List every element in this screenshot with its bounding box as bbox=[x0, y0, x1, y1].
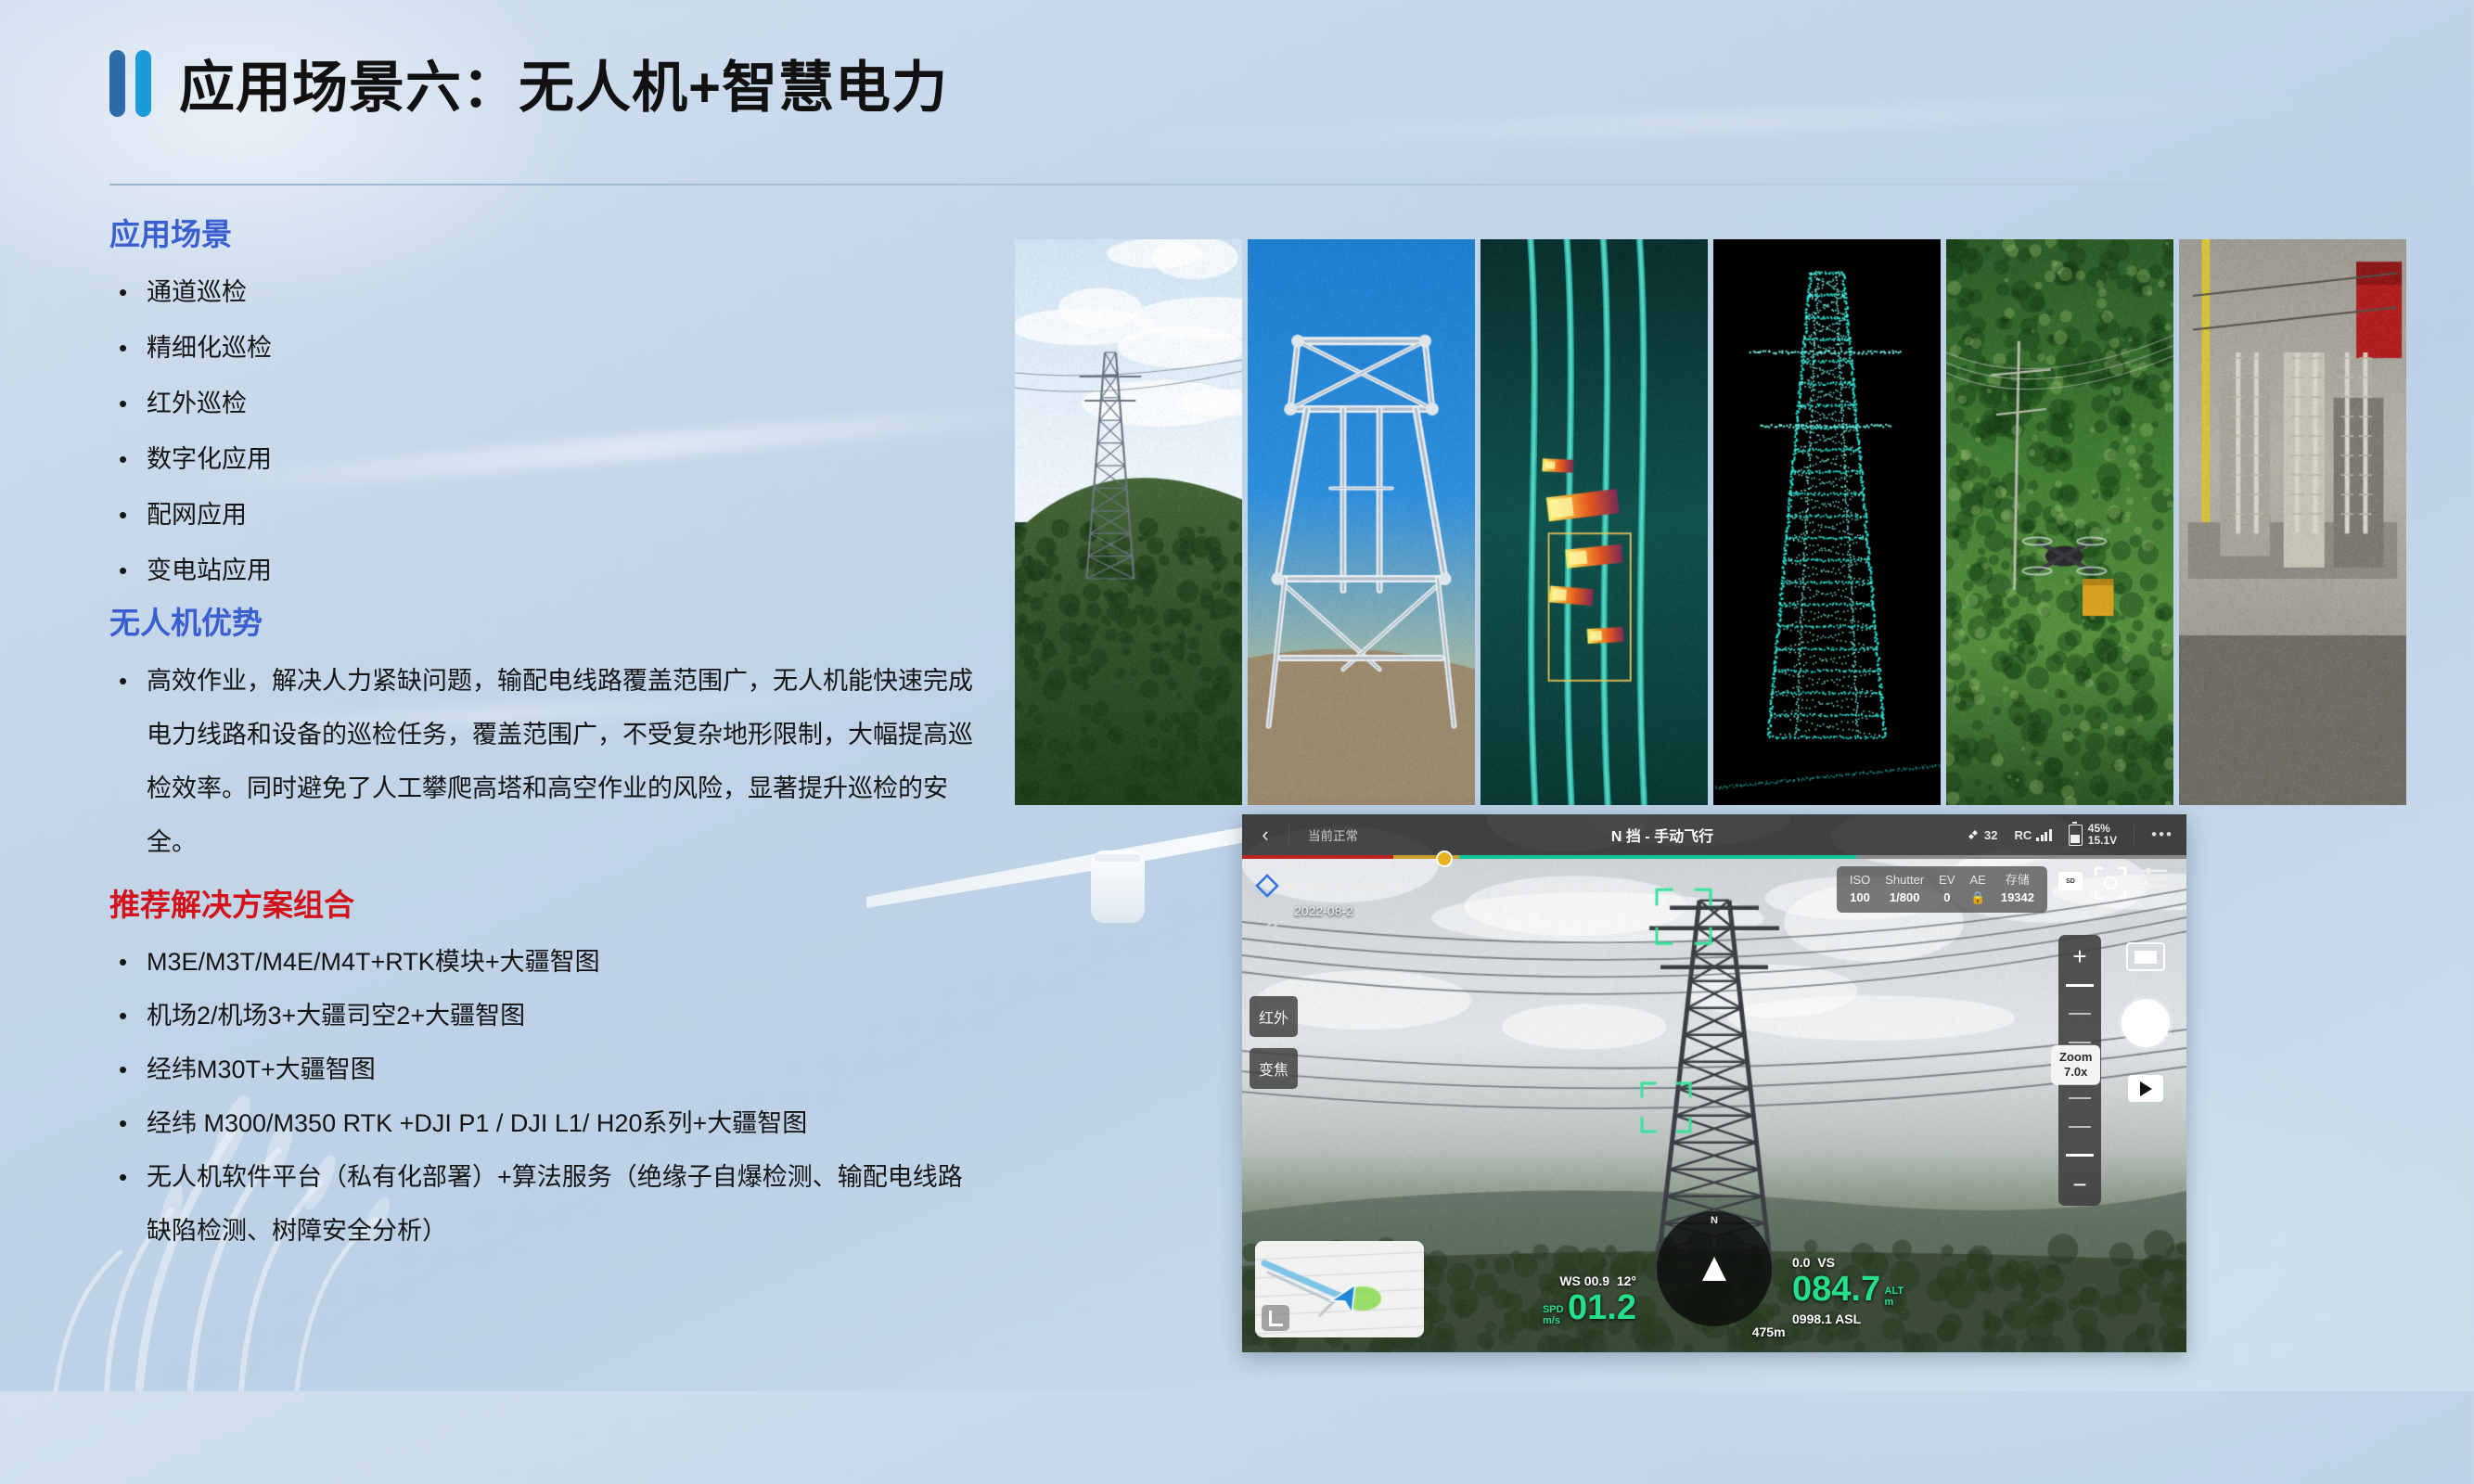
settings-sliders-icon[interactable] bbox=[2138, 864, 2170, 892]
advantages-paragraph: 高效作业，解决人力紧缺问题，输配电线路覆盖范围广，无人机能快速完成电力线路和设备… bbox=[109, 654, 981, 869]
ev-label: EV bbox=[1939, 872, 1955, 889]
page-title: 应用场景六：无人机+智慧电力 bbox=[179, 43, 948, 123]
satellite-indicator: 32 bbox=[1967, 828, 1997, 842]
camera-mode-buttons: 红外 变焦 bbox=[1250, 996, 1298, 1089]
list-item: 数字化应用 bbox=[109, 431, 1000, 487]
edit-pencil-icon[interactable] bbox=[1253, 916, 1281, 944]
ev-value: 0 bbox=[1939, 889, 1955, 907]
ae-lock-icon: 🔒 bbox=[1970, 889, 1986, 907]
storage-value: 19342 bbox=[2001, 889, 2034, 907]
progress-segment-red bbox=[1242, 855, 1393, 859]
battery-readout: 45% 15.1V bbox=[2088, 823, 2117, 848]
progress-segment-green bbox=[1459, 855, 1856, 859]
flight-mode-label: N 挡 - 手动飞行 bbox=[1358, 824, 1967, 846]
camera-settings-overlay: ISO 100 Shutter 1/800 EV 0 AE 🔒 存储 19342 bbox=[1837, 866, 2047, 913]
slide-header: 应用场景六：无人机+智慧电力 bbox=[109, 43, 948, 123]
zoom-tick bbox=[2069, 1013, 2091, 1015]
list-item: 无人机软件平台（私有化部署）+算法服务（绝缘子自爆检测、输配电线路缺陷检测、树障… bbox=[109, 1150, 963, 1258]
progress-knob[interactable] bbox=[1436, 851, 1453, 867]
photo-mode-button[interactable] bbox=[2126, 942, 2165, 971]
zoom-slider-control[interactable]: + Zoom 7.0x − bbox=[2058, 935, 2101, 1206]
rectangle-icon bbox=[2134, 951, 2157, 964]
accent-bar-light bbox=[135, 50, 151, 117]
photo-lidar-point-cloud-tower bbox=[1713, 239, 1941, 805]
camera-setting-ae[interactable]: AE 🔒 bbox=[1970, 872, 1986, 907]
minimap[interactable] bbox=[1255, 1241, 1424, 1337]
back-icon[interactable]: ‹ bbox=[1242, 825, 1288, 845]
camera-setting-storage[interactable]: 存储 19342 bbox=[2001, 872, 2034, 907]
list-item: 变电站应用 bbox=[109, 543, 1000, 598]
topbar-divider-2 bbox=[2134, 825, 2134, 845]
battery-percent: 45% bbox=[2088, 823, 2117, 835]
photo-tower-structure-closeup bbox=[1248, 239, 1475, 805]
satellite-count: 32 bbox=[1984, 828, 1997, 842]
shutter-value: 1/800 bbox=[1885, 889, 1924, 907]
iso-label: ISO bbox=[1850, 872, 1870, 889]
accent-bar-dark bbox=[109, 50, 125, 117]
app-topbar: ‹ 当前正常 N 挡 - 手动飞行 32 RC 45% 15.1V bbox=[1242, 814, 2186, 855]
zoom-tick bbox=[2069, 1097, 2091, 1099]
focus-target-icon[interactable] bbox=[2092, 864, 2129, 902]
list-item: 通道巡检 bbox=[109, 264, 1000, 320]
ae-label: AE bbox=[1970, 872, 1986, 889]
drone-app-screenshot: ‹ 当前正常 N 挡 - 手动飞行 32 RC 45% 15.1V bbox=[1242, 814, 2186, 1352]
battery-indicator: 45% 15.1V bbox=[2069, 823, 2117, 848]
list-item: 配网应用 bbox=[109, 487, 1000, 543]
section-heading-solutions: 推荐解决方案组合 bbox=[109, 886, 1000, 924]
section-heading-scenarios: 应用场景 bbox=[109, 215, 1000, 253]
photo-transmission-tower-hillside bbox=[1015, 239, 1242, 805]
zoom-button[interactable]: 变焦 bbox=[1250, 1048, 1298, 1089]
play-icon bbox=[2140, 1081, 2152, 1096]
zoom-tick bbox=[2066, 984, 2094, 987]
shutter-label: Shutter bbox=[1885, 872, 1924, 889]
list-item: 经纬M30T+大疆智图 bbox=[109, 1043, 1019, 1096]
capture-controls bbox=[2121, 942, 2170, 1102]
flight-status-text: 当前正常 bbox=[1289, 825, 1358, 844]
sd-card-icon[interactable]: SD bbox=[2058, 872, 2083, 890]
flight-progress-bar[interactable] bbox=[1242, 855, 2186, 859]
camera-setting-ev[interactable]: EV 0 bbox=[1939, 872, 1955, 907]
rc-signal-indicator: RC bbox=[2015, 828, 2052, 842]
photo-substation-equipment bbox=[2179, 239, 2406, 805]
list-item: 机场2/机场3+大疆司空2+大疆智图 bbox=[109, 989, 1019, 1043]
section-heading-advantages: 无人机优势 bbox=[109, 604, 1000, 642]
storage-label: 存储 bbox=[2001, 872, 2034, 889]
list-item: 精细化巡检 bbox=[109, 320, 1000, 376]
infrared-button[interactable]: 红外 bbox=[1250, 996, 1298, 1037]
zoom-track[interactable]: Zoom 7.0x bbox=[2058, 978, 2101, 1163]
zoom-out-button[interactable]: − bbox=[2058, 1163, 2101, 1206]
zoom-tick bbox=[2066, 1154, 2094, 1157]
photo-strip bbox=[1015, 239, 2406, 805]
playback-button[interactable] bbox=[2128, 1075, 2163, 1102]
zoom-value: 7.0x bbox=[2059, 1065, 2092, 1080]
distance-label: 475m bbox=[1752, 1324, 1786, 1339]
left-icon-strip bbox=[1253, 872, 1281, 944]
iso-value: 100 bbox=[1850, 889, 1870, 907]
left-content-column: 应用场景 通道巡检 精细化巡检 红外巡检 数字化应用 配网应用 变电站应用 无人… bbox=[109, 215, 1000, 1263]
title-accent-marks bbox=[109, 50, 151, 117]
zoom-in-button[interactable]: + bbox=[2058, 935, 2101, 978]
minimap-expand-icon[interactable] bbox=[1262, 1305, 1289, 1331]
title-divider bbox=[109, 184, 2419, 185]
battery-voltage: 15.1V bbox=[2088, 835, 2117, 847]
scenarios-list: 通道巡检 精细化巡检 红外巡检 数字化应用 配网应用 变电站应用 bbox=[109, 264, 1000, 598]
list-item: 红外巡检 bbox=[109, 376, 1000, 431]
background-streak-3 bbox=[1113, 90, 2319, 154]
waypoint-diamond-icon[interactable] bbox=[1253, 872, 1281, 900]
photo-infrared-thermal-inspection bbox=[1481, 239, 1708, 805]
more-dots-icon[interactable]: ••• bbox=[2151, 825, 2173, 844]
photo-distribution-line-drone bbox=[1946, 239, 2173, 805]
zoom-tick bbox=[2069, 1042, 2091, 1043]
list-item: 经纬 M300/M350 RTK +DJI P1 / DJI L1/ H20系列… bbox=[109, 1096, 1019, 1150]
signal-bars-icon bbox=[2036, 829, 2052, 841]
zoom-label: Zoom bbox=[2059, 1050, 2092, 1065]
rc-label: RC bbox=[2015, 828, 2032, 842]
topbar-indicators: 32 RC 45% 15.1V ••• bbox=[1967, 823, 2186, 848]
camera-setting-iso[interactable]: ISO 100 bbox=[1850, 872, 1870, 907]
list-item: M3E/M3T/M4E/M4T+RTK模块+大疆智图 bbox=[109, 935, 1019, 989]
solutions-list: M3E/M3T/M4E/M4T+RTK模块+大疆智图 机场2/机场3+大疆司空2… bbox=[109, 935, 1000, 1258]
zoom-level-badge: Zoom 7.0x bbox=[2051, 1045, 2100, 1085]
camera-setting-shutter[interactable]: Shutter 1/800 bbox=[1885, 872, 1924, 907]
shutter-button[interactable] bbox=[2121, 999, 2170, 1047]
video-timestamp: 2022-08-2 bbox=[1294, 903, 1353, 918]
zoom-tick bbox=[2069, 1126, 2091, 1128]
satellite-icon bbox=[1967, 828, 1980, 841]
battery-icon bbox=[2069, 825, 2083, 846]
